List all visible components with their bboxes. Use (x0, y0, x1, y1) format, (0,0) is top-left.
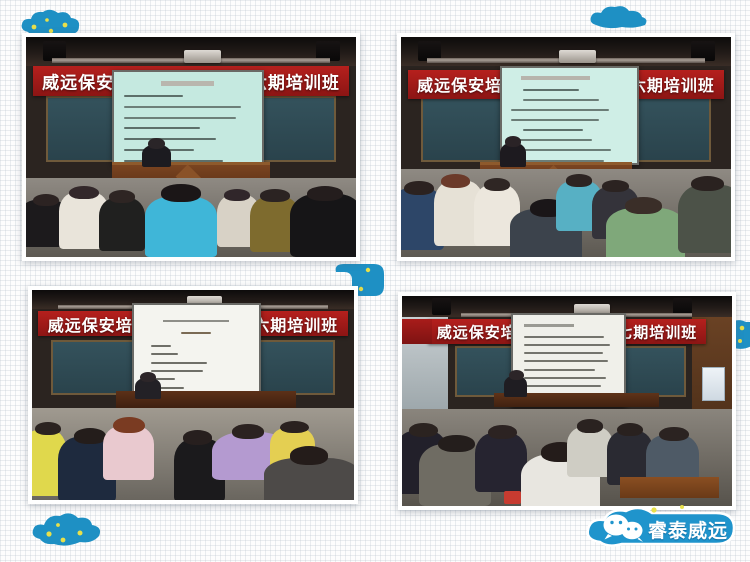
photo-training-session-2[interactable]: 威远保安培训 第六期培训班 (397, 33, 735, 261)
ceiling-speaker-left (432, 298, 452, 315)
photo-4-image: 威远保安培训 第七期培训班 (402, 296, 732, 506)
projection-screen (112, 70, 264, 165)
watermark-label: 睿泰威远 (648, 516, 728, 543)
wechat-watermark-badge[interactable]: 睿泰威远 (582, 504, 742, 556)
audience-area (402, 409, 732, 506)
lecturer-head (505, 136, 522, 147)
cloud-top-right (588, 4, 650, 32)
highlight-student-green (606, 208, 685, 257)
photo-training-session-1[interactable]: 威远保安培训 第六期培训班 (22, 33, 360, 261)
photo-3-image: 威远保安培训 第六期培训班 (32, 290, 354, 500)
photo-1-image: 威远保安培训 第六期培训班 (26, 37, 356, 257)
projector-icon (559, 50, 595, 63)
wood-desk (620, 477, 719, 498)
lecturer-head (140, 372, 156, 383)
cloud-bottom-left (30, 512, 104, 550)
poster-canvas: 威远保安培训 第六期培训班 (0, 0, 750, 562)
photo-training-session-4[interactable]: 威远保安培训 第七期培训班 (398, 292, 736, 510)
audience-area (401, 169, 731, 257)
highlight-student-blue (145, 197, 218, 257)
red-cup (504, 491, 521, 505)
banner-edge-left (402, 319, 432, 344)
lecturer-head (509, 370, 524, 381)
slide-content (114, 72, 262, 163)
lecturer-head (148, 138, 165, 149)
photo-training-session-3[interactable]: 威远保安培训 第六期培训班 (28, 286, 358, 504)
projector-icon (184, 50, 220, 63)
audience-area (32, 408, 354, 500)
photo-2-image: 威远保安培训 第六期培训班 (401, 37, 731, 257)
audience-area (26, 178, 356, 257)
poster-board (702, 367, 725, 401)
